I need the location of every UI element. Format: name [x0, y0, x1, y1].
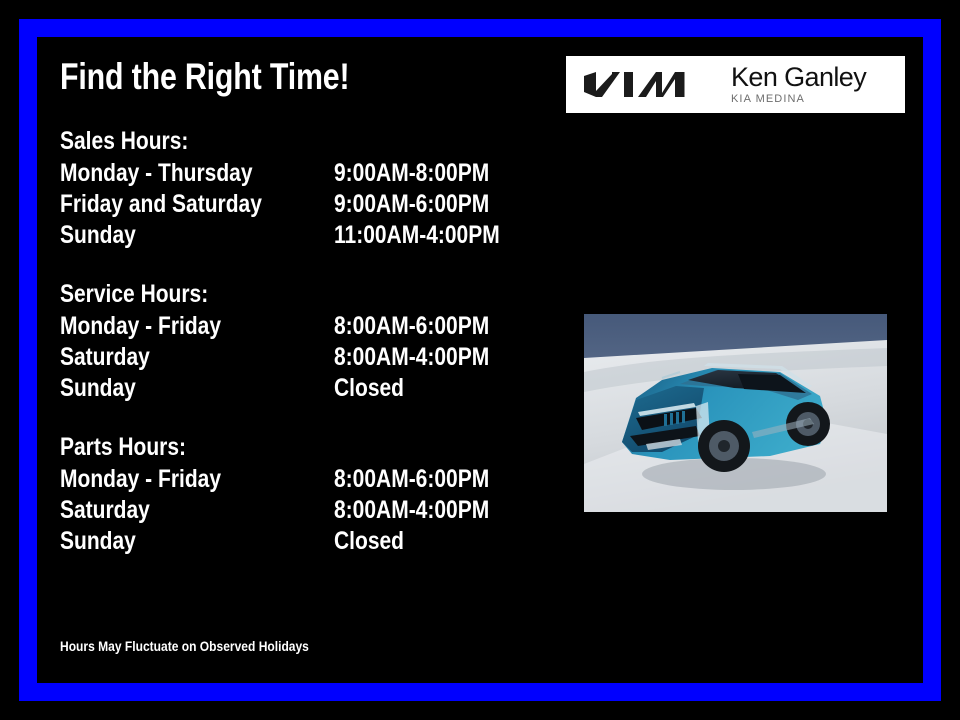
hours-row-time: 9:00AM-8:00PM: [334, 158, 489, 189]
hours-row: Sunday 11:00AM-4:00PM: [60, 220, 530, 251]
hours-row: Saturday 8:00AM-4:00PM: [60, 342, 530, 373]
hours-row-time: Closed: [334, 373, 404, 404]
hours-row: Sunday Closed: [60, 373, 530, 404]
hours-row-day: Sunday: [60, 373, 136, 404]
hours-row: Monday - Friday 8:00AM-6:00PM: [60, 311, 530, 342]
hours-group-sales: Sales Hours: Monday - Thursday 9:00AM-8:…: [60, 126, 530, 251]
hours-group-service: Service Hours: Monday - Friday 8:00AM-6:…: [60, 279, 530, 404]
hours-row: Monday - Friday 8:00AM-6:00PM: [60, 464, 530, 495]
dealer-name: Ken Ganley: [731, 63, 866, 91]
hours-row: Friday and Saturday 9:00AM-6:00PM: [60, 189, 530, 220]
hours-row: Sunday Closed: [60, 526, 530, 557]
hours-row-day: Saturday: [60, 495, 150, 526]
hours-row-time: 8:00AM-4:00PM: [334, 495, 489, 526]
hours-row-day: Monday - Thursday: [60, 158, 253, 189]
hours-row-time: 8:00AM-6:00PM: [334, 464, 489, 495]
hours-row-time: 8:00AM-4:00PM: [334, 342, 489, 373]
dealer-name-block: Ken Ganley KIA MEDINA: [731, 63, 866, 106]
hours-row-day: Monday - Friday: [60, 311, 221, 342]
hours-row-time: 9:00AM-6:00PM: [334, 189, 489, 220]
hours-row: Monday - Thursday 9:00AM-8:00PM: [60, 158, 530, 189]
hours-row-day: Friday and Saturday: [60, 189, 262, 220]
hours-group-heading: Service Hours:: [60, 279, 455, 310]
kia-logo-icon: [582, 68, 700, 102]
hours-row: Saturday 8:00AM-4:00PM: [60, 495, 530, 526]
hours-row-day: Sunday: [60, 220, 136, 251]
page-title: Find the Right Time!: [60, 55, 349, 99]
hours-row-day: Sunday: [60, 526, 136, 557]
hours-row-time: 11:00AM-4:00PM: [334, 220, 500, 251]
dealer-logo-lockup: Ken Ganley KIA MEDINA: [566, 56, 905, 113]
hours-group-heading: Sales Hours:: [60, 126, 455, 157]
hours-group-parts: Parts Hours: Monday - Friday 8:00AM-6:00…: [60, 432, 530, 557]
hours-sections: Sales Hours: Monday - Thursday 9:00AM-8:…: [60, 126, 530, 557]
dealer-location-subtitle: KIA MEDINA: [731, 92, 866, 106]
hours-group-heading: Parts Hours:: [60, 432, 455, 463]
slide-canvas: Find the Right Time! Sales Hours: Monday…: [0, 0, 960, 720]
hours-row-day: Saturday: [60, 342, 150, 373]
holiday-disclaimer: Hours May Fluctuate on Observed Holidays: [60, 637, 309, 655]
kia-ev9-suv-photo: [584, 314, 887, 512]
hours-row-time: Closed: [334, 526, 404, 557]
hours-row-day: Monday - Friday: [60, 464, 221, 495]
hours-row-time: 8:00AM-6:00PM: [334, 311, 489, 342]
